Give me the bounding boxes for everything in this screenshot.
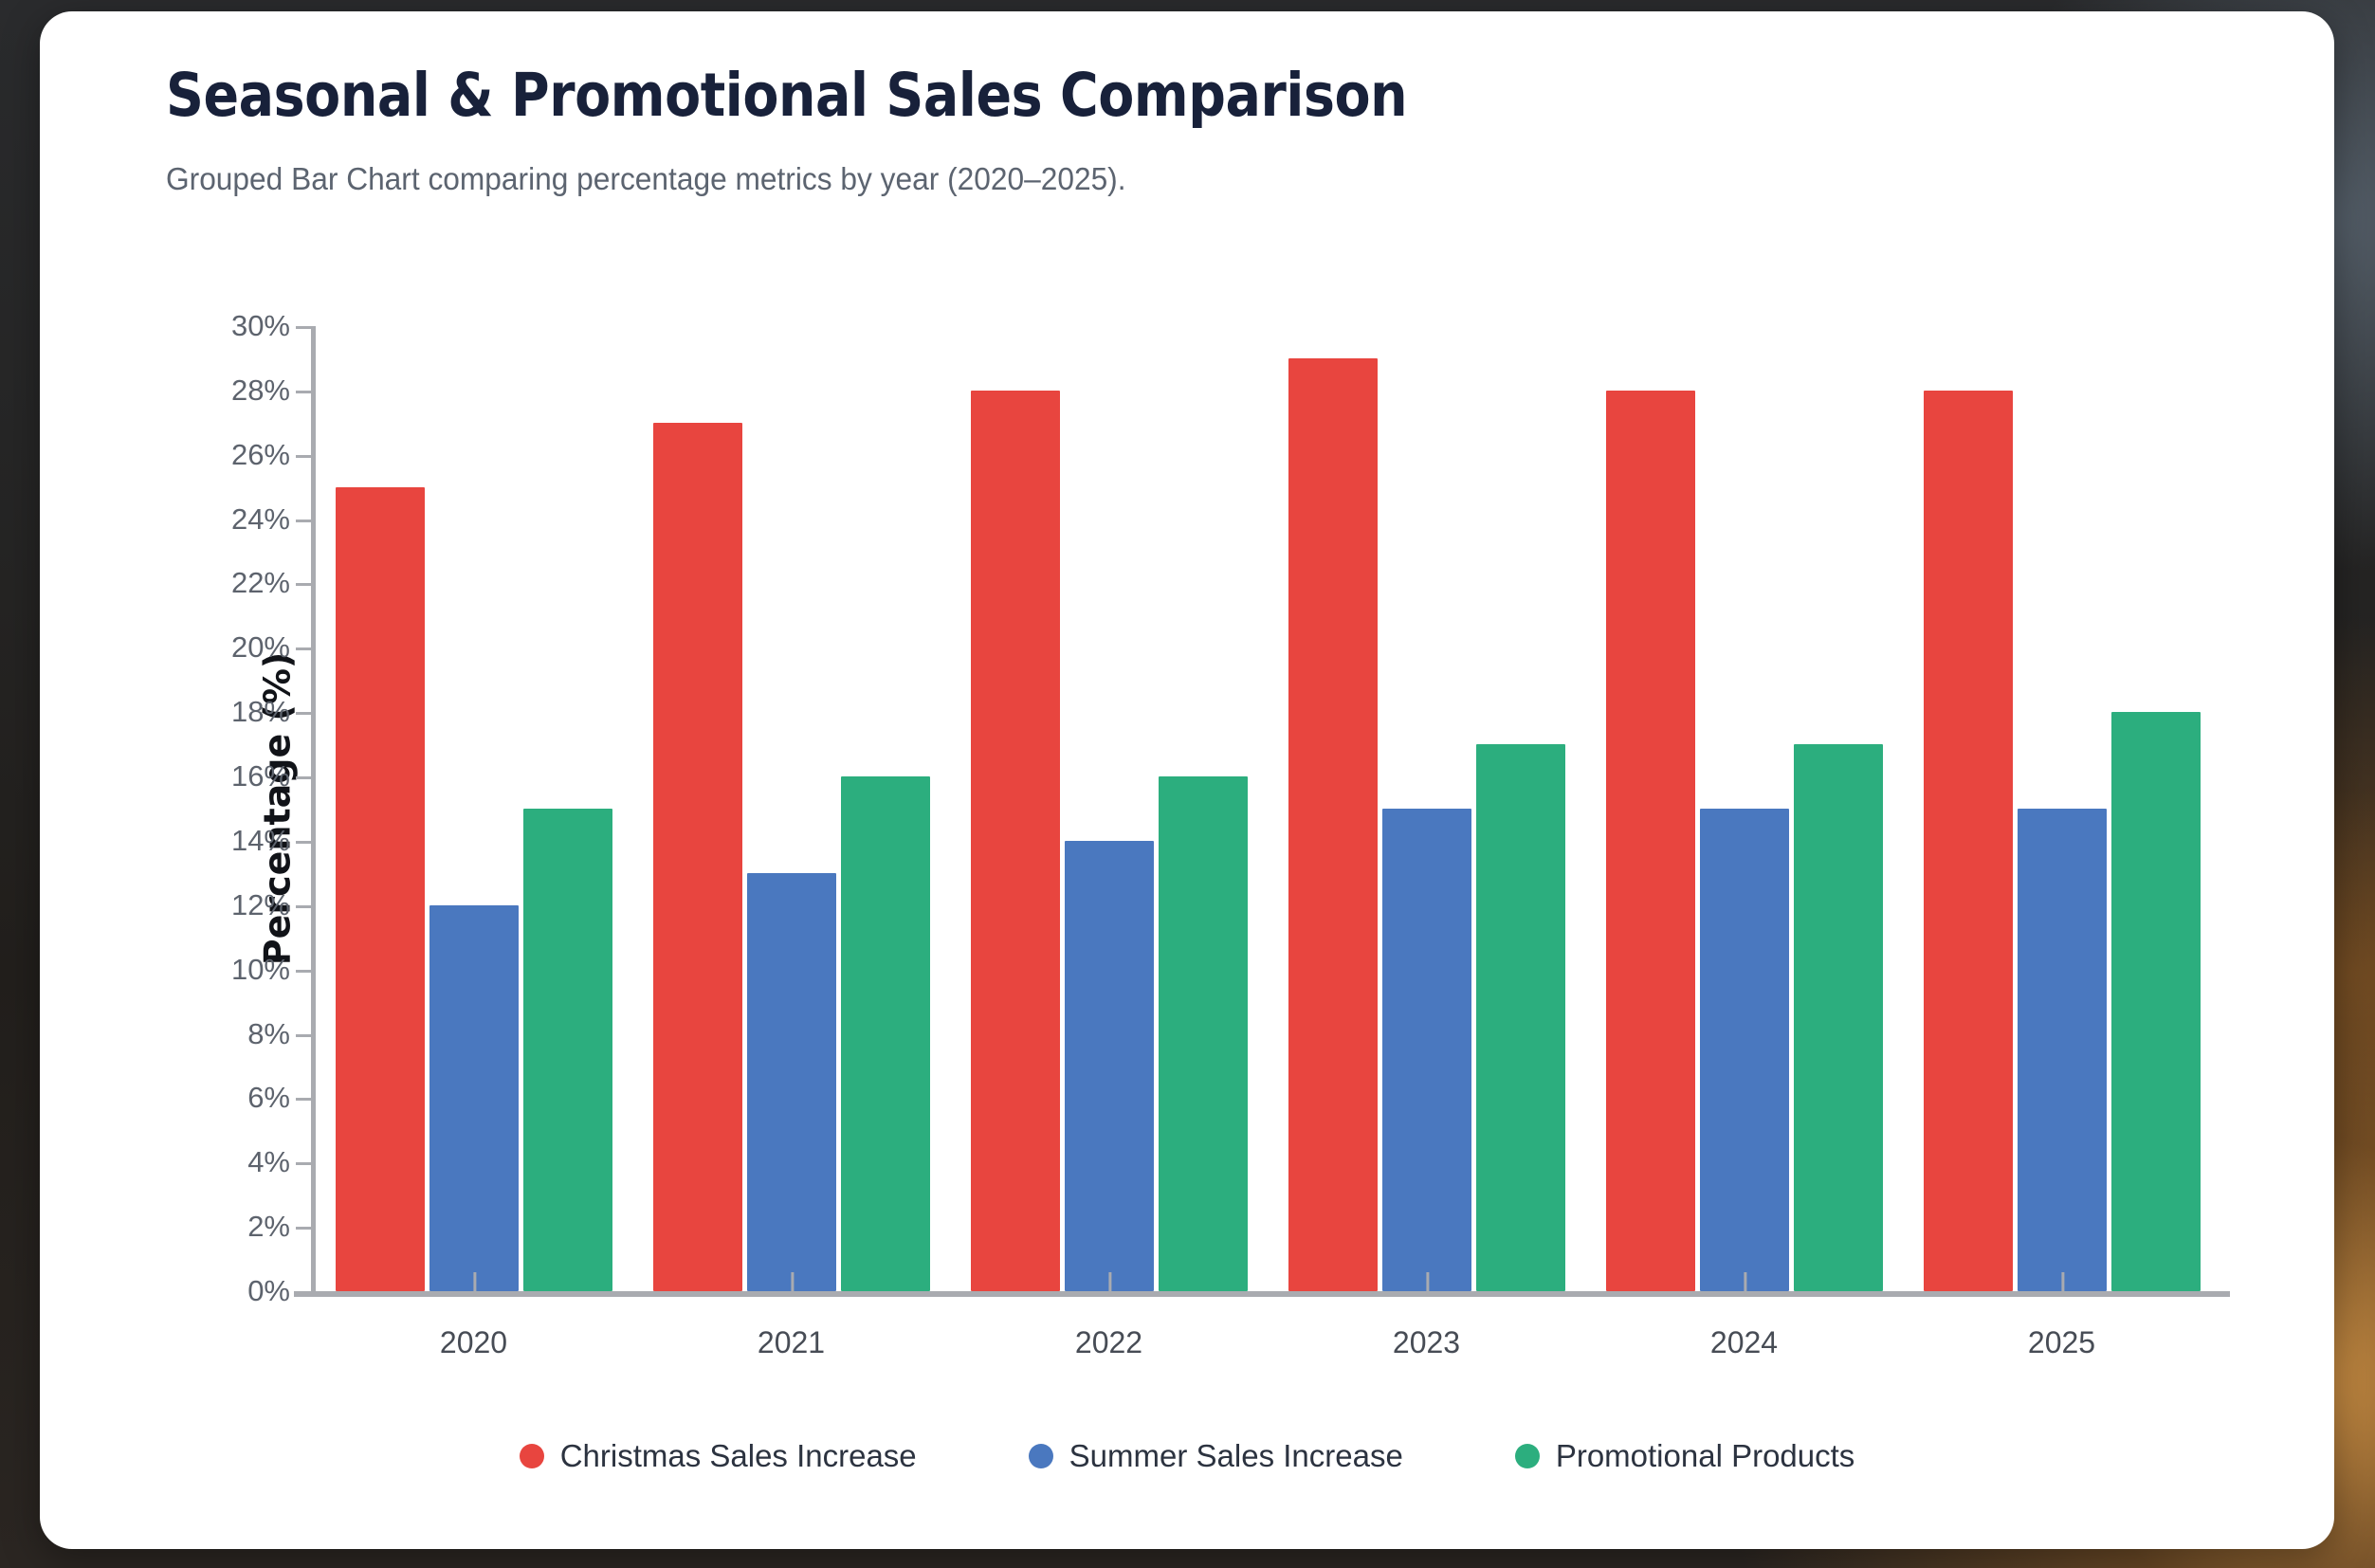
bar[interactable]	[1288, 358, 1378, 1291]
y-tick-label: 24%	[87, 502, 315, 537]
bar[interactable]	[841, 776, 930, 1291]
y-tick-label: 6%	[87, 1081, 315, 1115]
bar-group	[1585, 326, 1903, 1291]
x-tick-text: 2023	[1393, 1297, 1460, 1360]
y-tick-label: 2%	[87, 1210, 315, 1244]
y-tick-label: 20%	[87, 630, 315, 665]
legend-item[interactable]: Christmas Sales Increase	[520, 1438, 917, 1474]
bar[interactable]	[1382, 809, 1471, 1291]
legend-label: Promotional Products	[1556, 1438, 1854, 1474]
x-tick-text: 2024	[1710, 1297, 1778, 1360]
y-tick-label: 18%	[87, 695, 315, 729]
x-tick-label: 2021	[758, 1297, 825, 1360]
chart-subtitle: Grouped Bar Chart comparing percentage m…	[166, 161, 1126, 197]
bar[interactable]	[429, 905, 519, 1291]
x-tick-label: 2025	[2028, 1297, 2095, 1360]
x-tick-label: 2024	[1710, 1297, 1778, 1360]
y-tick-label: 16%	[87, 759, 315, 793]
bar[interactable]	[523, 809, 612, 1291]
page-title: Seasonal & Promotional Sales Comparison	[166, 61, 1407, 130]
legend-label: Christmas Sales Increase	[560, 1438, 917, 1474]
bar[interactable]	[2018, 809, 2107, 1291]
bar[interactable]	[1159, 776, 1248, 1291]
y-tick-label: 12%	[87, 888, 315, 922]
bar[interactable]	[1065, 841, 1154, 1291]
x-tick-label: 2022	[1075, 1297, 1142, 1360]
legend-color-swatch	[1029, 1444, 1053, 1468]
chart-card: Seasonal & Promotional Sales Comparison …	[40, 11, 2334, 1549]
bar-group	[315, 326, 632, 1291]
y-tick-label: 30%	[87, 309, 315, 343]
bar-group	[632, 326, 950, 1291]
bar[interactable]	[653, 423, 742, 1291]
bar[interactable]	[1794, 744, 1883, 1291]
y-tick-label: 8%	[87, 1017, 315, 1051]
x-axis-line	[294, 1291, 2230, 1297]
bar[interactable]	[747, 873, 836, 1291]
y-tick-label: 14%	[87, 824, 315, 858]
legend-label: Summer Sales Increase	[1069, 1438, 1403, 1474]
legend-item[interactable]: Summer Sales Increase	[1029, 1438, 1403, 1474]
x-tick-label: 2020	[440, 1297, 507, 1360]
y-tick-label: 28%	[87, 374, 315, 408]
y-tick-label: 0%	[87, 1274, 315, 1308]
x-tick-text: 2022	[1075, 1297, 1142, 1360]
y-tick-label: 4%	[87, 1145, 315, 1179]
x-tick-text: 2021	[758, 1297, 825, 1360]
bar[interactable]	[1476, 744, 1565, 1291]
legend-item[interactable]: Promotional Products	[1515, 1438, 1854, 1474]
x-tick-text: 2020	[440, 1297, 507, 1360]
bar-group	[950, 326, 1268, 1291]
plot-area: Percentage (%) 0%2%4%6%8%10%12%14%16%18%…	[315, 326, 2220, 1291]
x-tick-label: 2023	[1393, 1297, 1460, 1360]
bar[interactable]	[971, 391, 1060, 1291]
bar-group	[1903, 326, 2220, 1291]
bar[interactable]	[1700, 809, 1789, 1291]
bar[interactable]	[1606, 391, 1695, 1291]
y-tick-label: 22%	[87, 566, 315, 600]
legend-color-swatch	[1515, 1444, 1540, 1468]
bar[interactable]	[2111, 712, 2201, 1291]
bar[interactable]	[336, 487, 425, 1291]
x-tick-text: 2025	[2028, 1297, 2095, 1360]
y-tick-label: 10%	[87, 953, 315, 987]
bar[interactable]	[1924, 391, 2013, 1291]
legend-color-swatch	[520, 1444, 544, 1468]
chart-legend: Christmas Sales IncreaseSummer Sales Inc…	[40, 1438, 2334, 1474]
bar-group	[1268, 326, 1585, 1291]
y-tick-label: 26%	[87, 438, 315, 472]
